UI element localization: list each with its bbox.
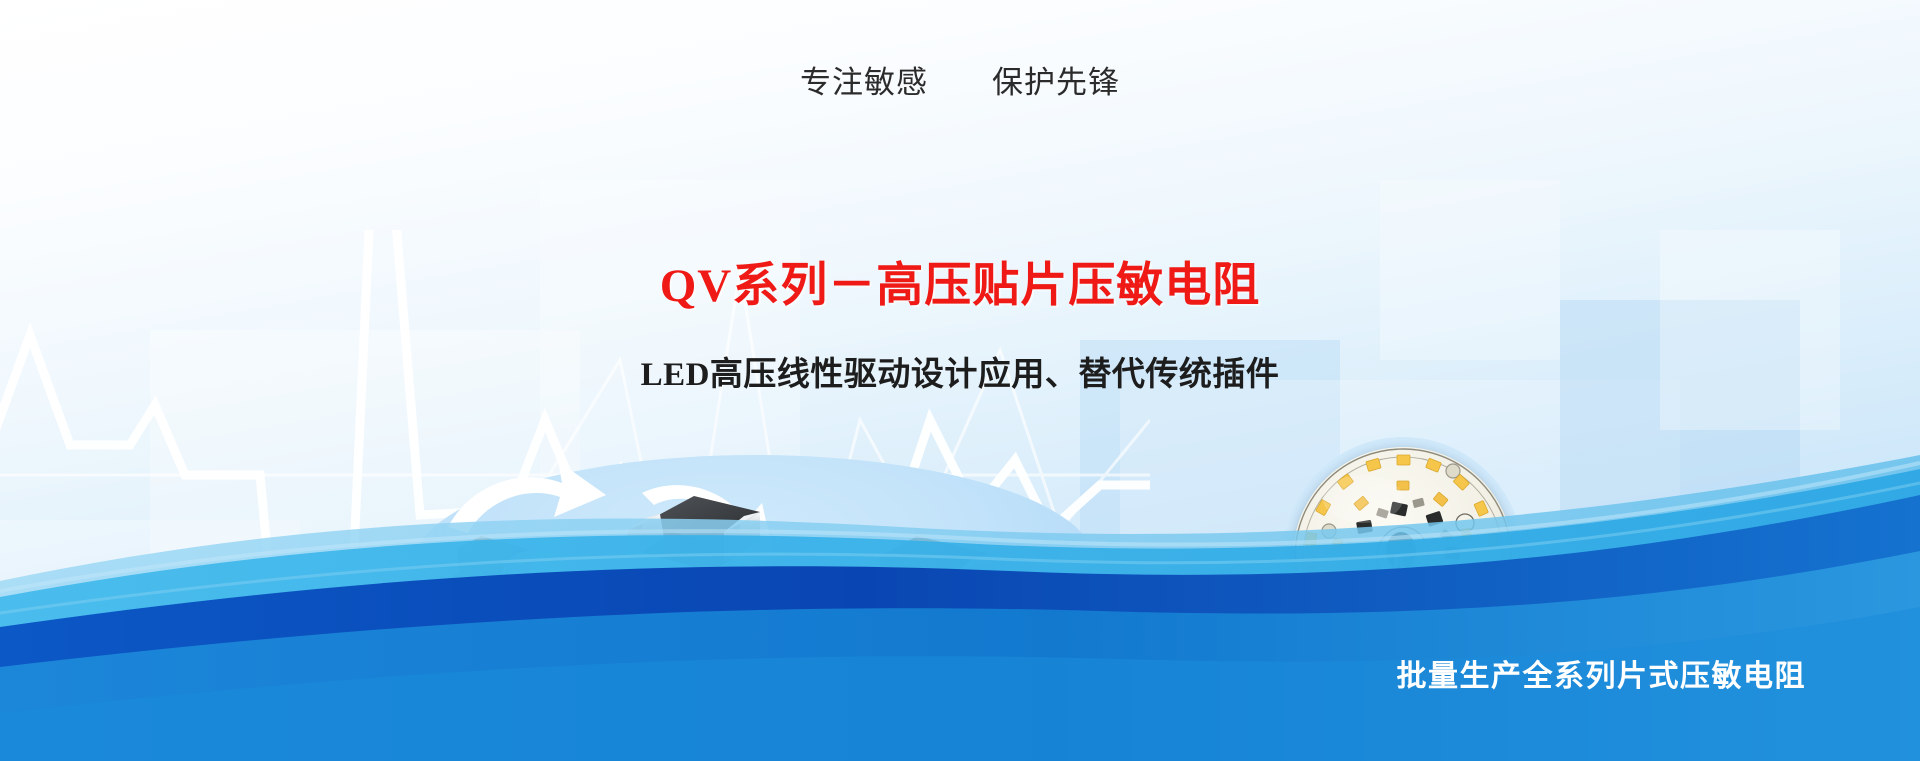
banner-headline: QV系列－高压贴片压敏电阻: [0, 246, 1920, 315]
banner-subheadline: LED高压线性驱动设计应用、替代传统插件: [0, 347, 1920, 395]
banner-tagline: 专注敏感 保护先锋: [0, 57, 1920, 102]
bottom-wave-graphic: [0, 431, 1920, 761]
product-banner: 专注敏感 保护先锋 QV系列－高压贴片压敏电阻 LED高压线性驱动设计应用、替代…: [0, 0, 1920, 761]
banner-caption: 批量生产全系列片式压敏电阻: [0, 651, 1806, 695]
